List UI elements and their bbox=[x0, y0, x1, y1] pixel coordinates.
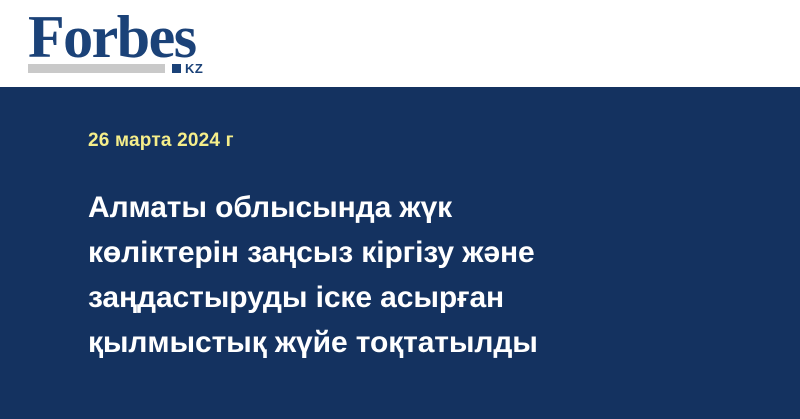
logo-square-icon bbox=[172, 64, 181, 73]
site-header: Forbes KZ bbox=[0, 0, 800, 87]
headline-line: Алматы облысында жүк bbox=[88, 185, 688, 230]
article-date: 26 марта 2024 г bbox=[88, 130, 234, 152]
article-preview-card: Forbes KZ 26 марта 2024 г Алматы облысын… bbox=[0, 0, 800, 419]
forbes-wordmark: Forbes bbox=[28, 4, 196, 70]
headline-line: көліктерін заңсыз кіргізу және bbox=[88, 230, 688, 275]
article-body-panel: 26 марта 2024 г Алматы облысында жүк көл… bbox=[0, 87, 800, 419]
logo-rule-divider bbox=[28, 64, 165, 73]
headline-line: заңдастыруды іске асырған bbox=[88, 275, 688, 320]
article-headline: Алматы облысында жүк көліктерін заңсыз к… bbox=[88, 185, 688, 365]
headline-line: қылмыстық жүйе тоқтатылды bbox=[88, 320, 688, 365]
logo-kz-suffix: KZ bbox=[185, 62, 203, 75]
forbes-kz-logo[interactable]: Forbes KZ bbox=[28, 8, 238, 80]
